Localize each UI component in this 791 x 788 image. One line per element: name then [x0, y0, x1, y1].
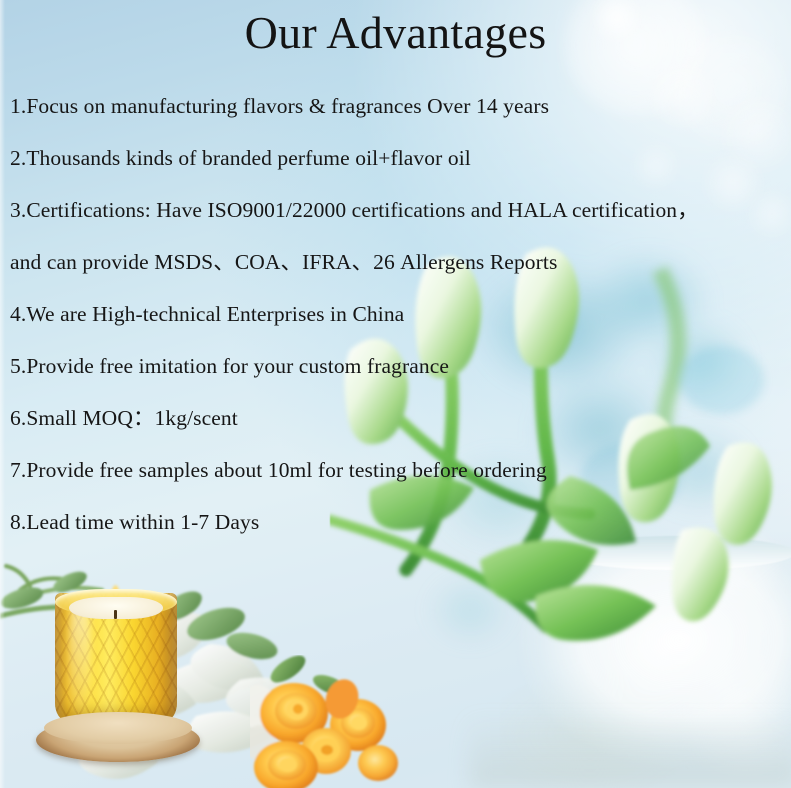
- list-item: 5.Provide free imitation for your custom…: [10, 340, 790, 392]
- list-item: 6.Small MOQ：1kg/scent: [10, 392, 790, 444]
- list-item: 8.Lead time within 1-7 Days: [10, 496, 790, 548]
- list-item: 4.We are High-technical Enterprises in C…: [10, 288, 790, 340]
- list-item: 3.Certifications: Have ISO9001/22000 cer…: [10, 184, 790, 236]
- wooden-coaster-surface: [44, 712, 192, 744]
- list-item: 2.Thousands kinds of branded perfume oil…: [10, 132, 790, 184]
- page-title: Our Advantages: [0, 6, 791, 60]
- advantages-list: 1.Focus on manufacturing flavors & fragr…: [10, 80, 790, 548]
- list-item-continuation: and can provide MSDS、COA、IFRA、26 Allerge…: [10, 236, 790, 288]
- roses-svg: [250, 655, 425, 788]
- candle-wick: [114, 610, 117, 619]
- list-item: 7.Provide free samples about 10ml for te…: [10, 444, 790, 496]
- advantages-banner: Our Advantages 1.Focus on manufacturing …: [0, 0, 791, 788]
- left-edge-highlight: [0, 0, 5, 788]
- table-shadow: [470, 716, 791, 788]
- list-item: 1.Focus on manufacturing flavors & fragr…: [10, 80, 790, 132]
- candle-jar-image: [55, 575, 177, 735]
- roses-image: [250, 655, 425, 788]
